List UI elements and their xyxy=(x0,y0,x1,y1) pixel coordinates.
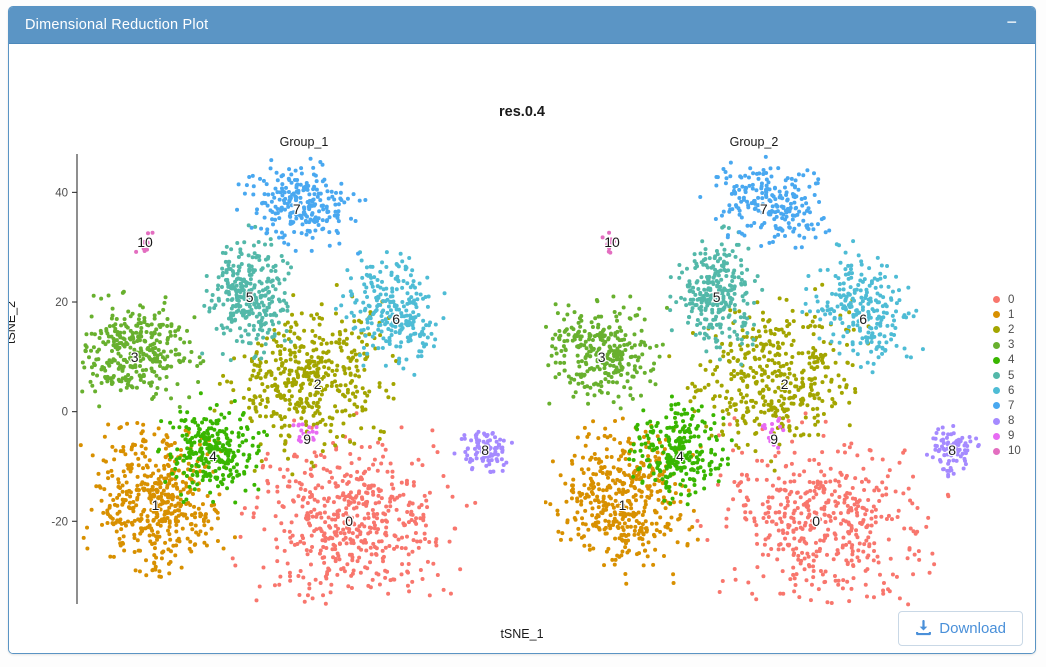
legend-color-swatch-10 xyxy=(993,448,1000,455)
legend-color-swatch-2 xyxy=(993,326,1000,333)
legend-label-9: 9 xyxy=(1008,430,1014,442)
facet-panel-group-2: 012345678910 xyxy=(544,154,994,609)
screenshot-root: Dimensional Reduction Plot − res.0.4 Gro… xyxy=(0,0,1046,667)
minimize-dash-icon[interactable]: − xyxy=(1004,17,1019,33)
dimensional-reduction-plot-card: Dimensional Reduction Plot − res.0.4 Gro… xyxy=(8,6,1036,654)
svg-text:40: 40 xyxy=(55,187,68,199)
legend-color-swatch-0 xyxy=(993,296,1000,303)
legend-item-6[interactable]: 6 xyxy=(993,383,1021,398)
download-button-label: Download xyxy=(939,620,1006,637)
dimensional-reduction-scatter-plot: res.0.4 Group_1 Group_2 tSNE_2 tSNE_1 -2… xyxy=(9,44,1035,604)
legend-item-7[interactable]: 7 xyxy=(993,398,1021,413)
legend-label-6: 6 xyxy=(1008,385,1014,397)
legend-item-3[interactable]: 3 xyxy=(993,338,1021,353)
legend-item-8[interactable]: 8 xyxy=(993,414,1021,429)
legend-item-5[interactable]: 5 xyxy=(993,368,1021,383)
card-body: res.0.4 Group_1 Group_2 tSNE_2 tSNE_1 -2… xyxy=(9,44,1035,654)
legend-label-8: 8 xyxy=(1008,415,1014,427)
legend-label-10: 10 xyxy=(1008,445,1021,457)
legend-label-5: 5 xyxy=(1008,370,1014,382)
legend-color-swatch-3 xyxy=(993,342,1000,349)
legend-label-7: 7 xyxy=(1008,400,1014,412)
legend-label-0: 0 xyxy=(1008,294,1014,306)
legend-item-2[interactable]: 2 xyxy=(993,322,1021,337)
legend-color-swatch-8 xyxy=(993,418,1000,425)
legend-item-4[interactable]: 4 xyxy=(993,353,1021,368)
legend-label-3: 3 xyxy=(1008,339,1014,351)
svg-text:0: 0 xyxy=(62,407,68,419)
legend-item-10[interactable]: 10 xyxy=(993,444,1021,459)
legend-color-swatch-1 xyxy=(993,311,1000,318)
svg-text:20: 20 xyxy=(55,297,68,309)
scatter-points-group-2 xyxy=(544,154,994,609)
cluster-legend: 012345678910 xyxy=(993,292,1021,459)
download-icon xyxy=(915,620,932,637)
legend-label-4: 4 xyxy=(1008,354,1014,366)
legend-color-swatch-7 xyxy=(993,402,1000,409)
svg-text:-20: -20 xyxy=(51,516,68,528)
card-footer: Download xyxy=(9,604,1035,654)
scatter-points-group-1 xyxy=(77,154,527,609)
legend-color-swatch-4 xyxy=(993,357,1000,364)
download-button[interactable]: Download xyxy=(898,611,1023,646)
legend-label-2: 2 xyxy=(1008,324,1014,336)
legend-color-swatch-9 xyxy=(993,433,1000,440)
card-header: Dimensional Reduction Plot − xyxy=(9,7,1035,44)
legend-item-0[interactable]: 0 xyxy=(993,292,1021,307)
legend-label-1: 1 xyxy=(1008,309,1014,321)
legend-item-9[interactable]: 9 xyxy=(993,429,1021,444)
legend-item-1[interactable]: 1 xyxy=(993,307,1021,322)
legend-color-swatch-6 xyxy=(993,387,1000,394)
page-title: Dimensional Reduction Plot xyxy=(25,17,208,33)
facet-panel-group-1: 012345678910 xyxy=(77,154,527,609)
legend-color-swatch-5 xyxy=(993,372,1000,379)
